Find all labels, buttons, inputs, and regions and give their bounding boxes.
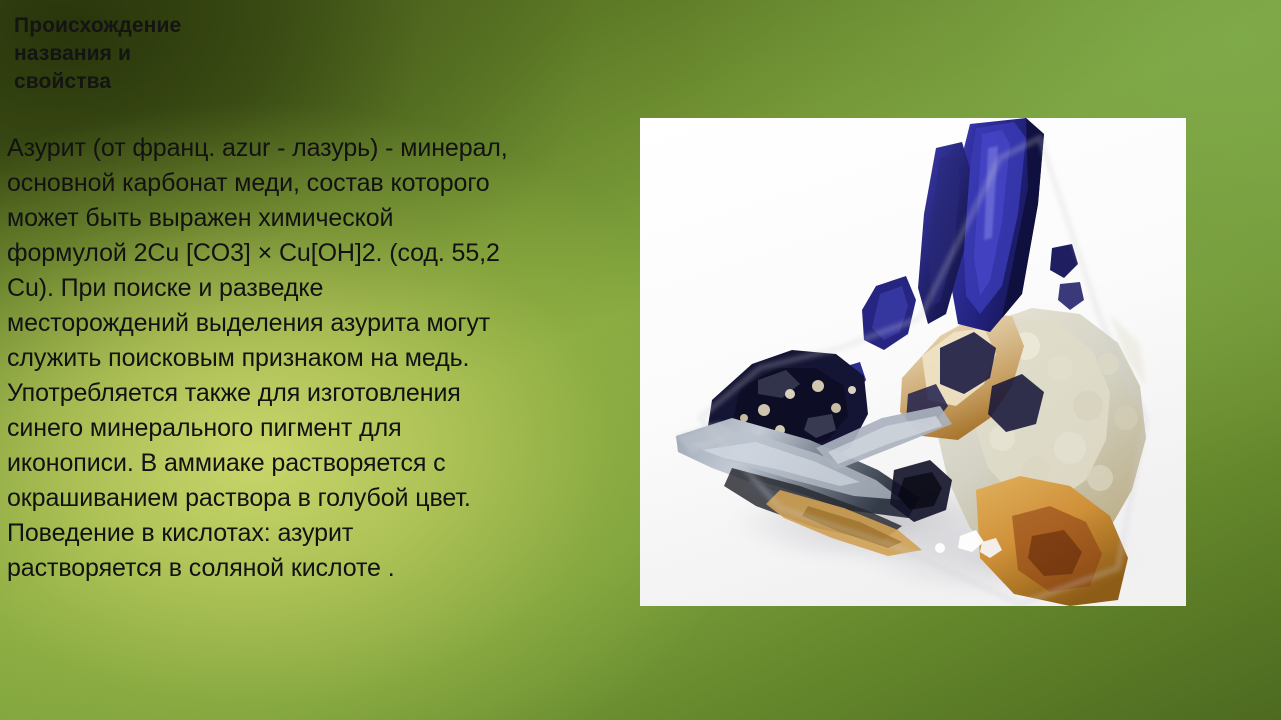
azurite-specimen-photo [640, 118, 1186, 606]
azurite-illustration [640, 118, 1186, 606]
body-paragraph: Азурит (от франц. azur - лазурь) - минер… [7, 131, 607, 586]
slide: Происхождение названия и свойства Азурит… [0, 0, 1281, 720]
page-title: Происхождение названия и свойства [14, 12, 266, 96]
